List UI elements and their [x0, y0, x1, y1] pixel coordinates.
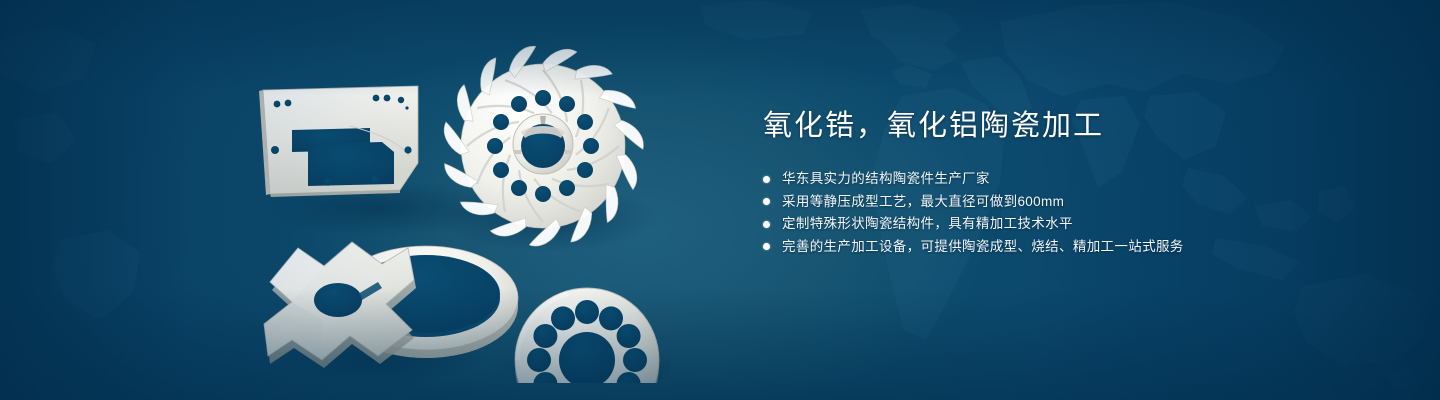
feature-list: 华东具实力的结构陶瓷件生产厂家 采用等静压成型工艺，最大直径可做到600mm 定… — [763, 168, 1303, 258]
bullet-dot-icon — [763, 243, 770, 250]
feature-text: 完善的生产加工设备，可提供陶瓷成型、烧结、精加工一站式服务 — [782, 236, 1184, 258]
bullet-dot-icon — [763, 198, 770, 205]
feature-text: 定制特殊形状陶瓷结构件，具有精加工技术水平 — [782, 213, 1073, 235]
bullet-dot-icon — [763, 221, 770, 228]
product-banner: 氧化锆，氧化铝陶瓷加工 华东具实力的结构陶瓷件生产厂家 采用等静压成型工艺，最大… — [0, 0, 1440, 400]
list-item: 采用等静压成型工艺，最大直径可做到600mm — [763, 191, 1303, 213]
banner-copy: 氧化锆，氧化铝陶瓷加工 华东具实力的结构陶瓷件生产厂家 采用等静压成型工艺，最大… — [763, 106, 1303, 258]
page-title: 氧化锆，氧化铝陶瓷加工 — [763, 106, 1303, 146]
list-item: 完善的生产加工设备，可提供陶瓷成型、烧结、精加工一站式服务 — [763, 236, 1303, 258]
list-item: 定制特殊形状陶瓷结构件，具有精加工技术水平 — [763, 213, 1303, 235]
feature-text: 华东具实力的结构陶瓷件生产厂家 — [782, 168, 990, 190]
bullet-dot-icon — [763, 176, 770, 183]
list-item: 华东具实力的结构陶瓷件生产厂家 — [763, 168, 1303, 190]
feature-text: 采用等静压成型工艺，最大直径可做到600mm — [782, 191, 1064, 213]
